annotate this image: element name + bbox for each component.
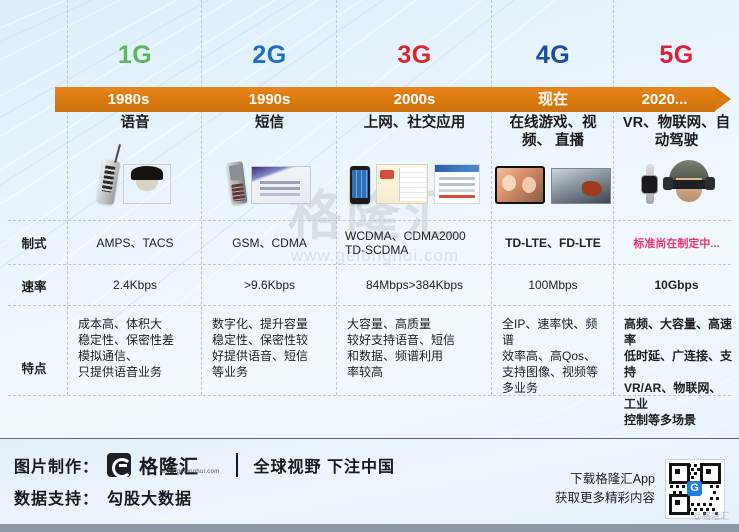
devices-5g [614,138,739,208]
era-1g: 1980s [55,87,202,112]
web-portal-icon [376,164,428,204]
timeline-arrow-icon [715,87,731,111]
video-call-icon [495,166,545,204]
brand-slogan: 全球视野 下注中国 [254,453,395,477]
features-5g: 高频、大容量、高速率 低时延、广连接、支持 VR/AR、物联网、工业 控制等多场… [614,306,739,428]
footer-divider [236,453,238,477]
standard-row: 制式 AMPS、TACS GSM、CDMA WCDMA、CDMA2000 TD-… [0,221,739,264]
social-feed-icon [434,164,480,204]
features-3g: 大容量、高质量 较好支持语音、短信 和数据、频谱利用 率较高 [337,306,492,428]
devices-1g [68,138,202,208]
devices-4g [492,138,614,208]
devices-2g [202,138,337,208]
qr-finder-top-right [700,463,721,484]
generation-title-2g: 2G [202,38,337,72]
features-1g: 成本高、体积大 稳定性、保密性差 模拟通信、 只提供语音业务 [68,306,202,428]
vintage-photo-icon [123,164,171,204]
era-3g: 2000s [337,87,492,112]
speed-row: 速率 2.4Kbps >9.6Kbps 84Mbps>384Kbps 100Mb… [0,265,739,305]
features-2g: 数字化、提升容量 稳定性、保密性较 好提供语音、短信 等业务 [202,306,337,428]
standard-5g: 标准尚在制定中... [614,221,739,264]
game-screen-icon [551,168,611,204]
speed-3g: 84Mbps>384Kbps [337,265,492,305]
data-source-label: 数据支持： [14,485,99,509]
generation-title-4g: 4G [492,38,614,72]
smartwatch-icon [641,164,659,204]
qr-finder-top-left [669,463,690,484]
speed-1g: 2.4Kbps [68,265,202,305]
era-5g: 2020... [614,87,715,112]
corner-watermark: @格隆汇 [693,509,729,522]
app-download-line2: 获取更多精彩内容 [555,489,655,508]
gelonghui-logo-icon [107,453,131,477]
app-download-text: 下载格隆汇App 获取更多精彩内容 [555,470,655,508]
comparison-table: 格隆汇 www.gelonghui.com 1G 2G 3G 4G 5G 198… [0,0,739,438]
standard-2g: GSM、CDMA [202,221,337,264]
app-download-line1: 下载格隆汇App [555,470,655,489]
row-label-features: 特点 [0,306,68,428]
qr-brand-badge: G [687,481,702,496]
flip-phone-icon [226,161,247,205]
brand-url: www.gelonghui.com [161,469,219,475]
smartphone-icon [350,166,370,204]
features-4g: 全IP、速率快、频谱 效率高、高Qos、 支持图像、视频等 多业务 [492,306,614,428]
generation-title-3g: 3G [337,38,492,72]
laptop-screenshot-icon [251,166,311,204]
device-illustration-row [68,138,739,208]
footer-credits: 图片制作： 格隆汇 www.gelonghui.com 全球视野 下注中国 数据… [14,449,395,513]
devices-3g [337,138,492,208]
era-timeline-banner: 1980s 1990s 2000s 现在 2020... [55,87,715,112]
footer: 图片制作： 格隆汇 www.gelonghui.com 全球视野 下注中国 数据… [0,438,739,532]
generation-header-row: 1G 2G 3G 4G 5G [68,38,739,72]
generation-title-5g: 5G [614,38,739,72]
brick-phone-icon [96,159,120,205]
era-2g: 1990s [202,87,337,112]
generation-title-1g: 1G [68,38,202,72]
data-source-value: 勾股大数据 [107,485,192,509]
speed-5g: 10Gbps [614,265,739,305]
data-source-line: 数据支持： 勾股大数据 [14,481,395,513]
standard-1g: AMPS、TACS [68,221,202,264]
row-label-speed: 速率 [0,265,68,305]
standard-3g: WCDMA、CDMA2000 TD-SCDMA [337,221,492,264]
vr-headset-icon [665,160,713,204]
standard-4g: TD-LTE、FD-LTE [492,221,614,264]
era-4g: 现在 [492,87,614,112]
credit-line: 图片制作： 格隆汇 www.gelonghui.com 全球视野 下注中国 [14,449,395,481]
qr-finder-bottom-left [669,494,690,515]
row-label-standard: 制式 [0,221,68,264]
speed-4g: 100Mbps [492,265,614,305]
speed-2g: >9.6Kbps [202,265,337,305]
credit-label: 图片制作： [14,453,99,477]
infographic-canvas: 格隆汇 www.gelonghui.com 1G 2G 3G 4G 5G 198… [0,0,739,532]
bottom-bar [0,524,739,532]
features-row: 特点 成本高、体积大 稳定性、保密性差 模拟通信、 只提供语音业务 数字化、提升… [0,306,739,395]
